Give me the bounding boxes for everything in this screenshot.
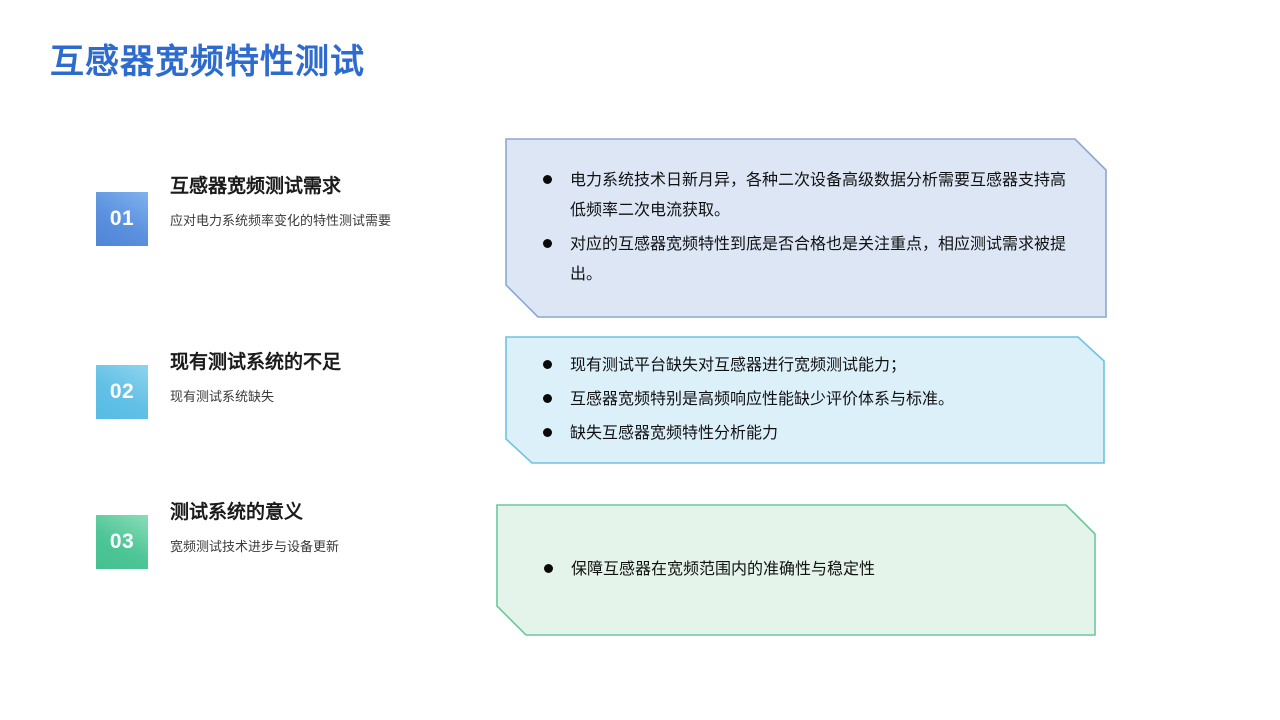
bullet-dot-icon	[543, 239, 552, 248]
bullet-item: 电力系统技术日新月异，各种二次设备高级数据分析需要互感器支持高低频率二次电流获取…	[543, 166, 1081, 226]
bullet-item: 保障互感器在宽频范围内的准确性与稳定性	[544, 555, 1070, 585]
bullet-item: 现有测试平台缺失对互感器进行宽频测试能力；	[543, 351, 1079, 381]
callout-box-01: 电力系统技术日新月异，各种二次设备高级数据分析需要互感器支持高低频率二次电流获取…	[505, 138, 1107, 318]
callout-box-03: 保障互感器在宽频范围内的准确性与稳定性	[496, 504, 1096, 636]
bullet-text: 现有测试平台缺失对互感器进行宽频测试能力；	[570, 351, 906, 381]
step-item-03: 03 测试系统的意义 宽频测试技术进步与设备更新	[96, 496, 339, 550]
callout-box-02: 现有测试平台缺失对互感器进行宽频测试能力； 互感器宽频特别是高频响应性能缺少评价…	[505, 336, 1105, 464]
bullet-text: 缺失互感器宽频特性分析能力	[570, 419, 778, 449]
bullet-text: 对应的互感器宽频特性到底是否合格也是关注重点，相应测试需求被提出。	[570, 230, 1081, 290]
step-number-badge-02: 02	[96, 365, 148, 419]
callout-body-02: 现有测试平台缺失对互感器进行宽频测试能力； 互感器宽频特别是高频响应性能缺少评价…	[505, 351, 1105, 449]
bullet-item: 互感器宽频特别是高频响应性能缺少评价体系与标准。	[543, 385, 1079, 415]
step-subtitle: 应对电力系统频率变化的特性测试需要	[170, 213, 391, 230]
step-heading: 现有测试系统的不足	[170, 352, 341, 375]
step-text-block-02: 现有测试系统的不足 现有测试系统缺失	[170, 352, 341, 406]
step-heading: 互感器宽频测试需求	[170, 176, 391, 199]
step-subtitle: 宽频测试技术进步与设备更新	[170, 539, 339, 556]
bullet-dot-icon	[543, 175, 552, 184]
bullet-text: 保障互感器在宽频范围内的准确性与稳定性	[571, 555, 875, 585]
step-text-block-01: 互感器宽频测试需求 应对电力系统频率变化的特性测试需要	[170, 176, 391, 230]
bullet-dot-icon	[543, 428, 552, 437]
bullet-item: 对应的互感器宽频特性到底是否合格也是关注重点，相应测试需求被提出。	[543, 230, 1081, 290]
step-number-label: 01	[110, 207, 134, 231]
step-number-badge-03: 03	[96, 515, 148, 569]
step-item-01: 01 互感器宽频测试需求 应对电力系统频率变化的特性测试需要	[96, 166, 391, 220]
step-text-block-03: 测试系统的意义 宽频测试技术进步与设备更新	[170, 502, 339, 556]
step-number-badge-01: 01	[96, 192, 148, 246]
page-title: 互感器宽频特性测试	[50, 34, 365, 83]
step-number-label: 02	[110, 380, 134, 404]
bullet-text: 电力系统技术日新月异，各种二次设备高级数据分析需要互感器支持高低频率二次电流获取…	[570, 166, 1081, 226]
bullet-text: 互感器宽频特别是高频响应性能缺少评价体系与标准。	[570, 385, 954, 415]
callout-body-01: 电力系统技术日新月异，各种二次设备高级数据分析需要互感器支持高低频率二次电流获取…	[505, 166, 1107, 290]
step-item-02: 02 现有测试系统的不足 现有测试系统缺失	[96, 344, 341, 398]
step-subtitle: 现有测试系统缺失	[170, 389, 341, 406]
callout-body-03: 保障互感器在宽频范围内的准确性与稳定性	[496, 555, 1096, 585]
step-heading: 测试系统的意义	[170, 502, 339, 525]
bullet-dot-icon	[543, 394, 552, 403]
bullet-item: 缺失互感器宽频特性分析能力	[543, 419, 1079, 449]
bullet-dot-icon	[543, 360, 552, 369]
step-number-label: 03	[110, 530, 134, 554]
bullet-dot-icon	[544, 564, 553, 573]
